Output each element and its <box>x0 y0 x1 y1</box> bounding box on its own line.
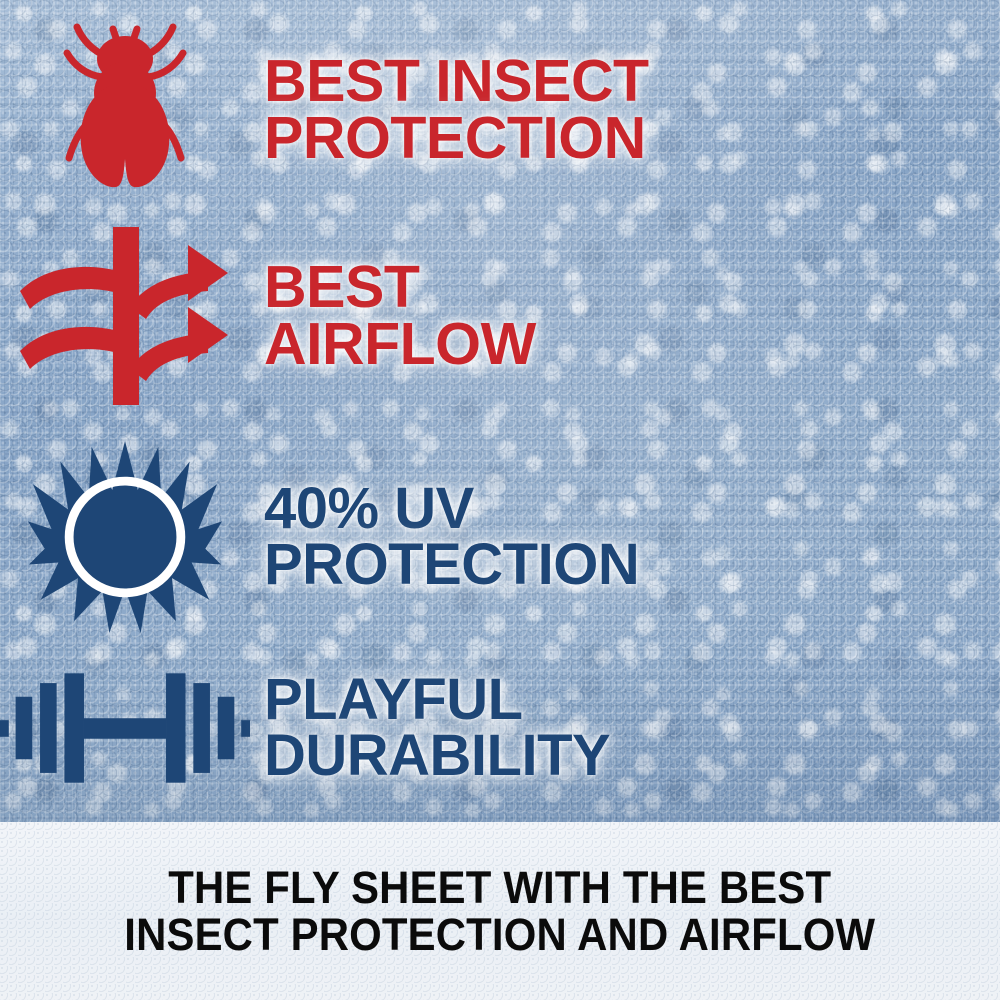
caption-text: THE FLY SHEET WITH THE BEST INSECT PROTE… <box>125 864 876 959</box>
feature-text-cell: BEST AIRFLOW <box>250 259 1000 372</box>
feature-icon-cell <box>0 223 250 409</box>
feature-label-line: DURABILITY <box>264 728 1000 784</box>
product-infographic: BEST INSECT PROTECTION <box>0 0 1000 1000</box>
caption-bar: THE FLY SHEET WITH THE BEST INSECT PROTE… <box>0 822 1000 1000</box>
feature-list: BEST INSECT PROTECTION <box>0 0 1000 822</box>
airflow-arrow-upper-right <box>130 245 228 319</box>
feature-icon-cell <box>0 439 250 635</box>
feature-row-best-insect-protection: BEST INSECT PROTECTION <box>0 10 1000 210</box>
feature-row-best-airflow: BEST AIRFLOW <box>0 212 1000 420</box>
feature-text-cell: BEST INSECT PROTECTION <box>250 53 1000 166</box>
feature-row-uv-protection: 40% UV PROTECTION <box>0 432 1000 642</box>
sun-rays <box>28 441 222 633</box>
feature-label-line: BEST <box>264 259 1000 316</box>
feature-label-uv-protection: 40% UV PROTECTION <box>264 481 1000 592</box>
airflow-icon <box>12 223 238 409</box>
feature-label-line: PROTECTION <box>264 110 1000 167</box>
dumbbell-icon <box>0 664 250 792</box>
feature-text-cell: 40% UV PROTECTION <box>250 481 1000 592</box>
caption-line: THE FLY SHEET WITH THE BEST <box>125 864 876 911</box>
airflow-barrier-bar <box>113 227 139 405</box>
airflow-arrow-lower-right <box>130 307 228 381</box>
feature-row-playful-durability: PLAYFUL DURABILITY <box>0 645 1000 810</box>
feature-label-line: PROTECTION <box>264 537 1000 593</box>
feature-label-best-airflow: BEST AIRFLOW <box>264 259 1000 372</box>
feature-text-cell: PLAYFUL DURABILITY <box>250 672 1000 783</box>
airflow-stream-lower-left <box>20 327 118 369</box>
caption-line: INSECT PROTECTION AND AIRFLOW <box>125 911 876 958</box>
feature-label-best-insect-protection: BEST INSECT PROTECTION <box>264 53 1000 166</box>
airflow-stream-upper-left <box>20 267 118 309</box>
feature-label-line: BEST INSECT <box>264 53 1000 110</box>
feature-label-line: 40% UV <box>264 481 1000 537</box>
feature-label-line: AIRFLOW <box>264 316 1000 373</box>
sun-icon <box>24 439 226 635</box>
fly-icon <box>50 21 200 199</box>
feature-label-playful-durability: PLAYFUL DURABILITY <box>264 672 1000 783</box>
feature-icon-cell <box>0 21 250 199</box>
feature-icon-cell <box>0 664 250 792</box>
feature-label-line: PLAYFUL <box>264 672 1000 728</box>
